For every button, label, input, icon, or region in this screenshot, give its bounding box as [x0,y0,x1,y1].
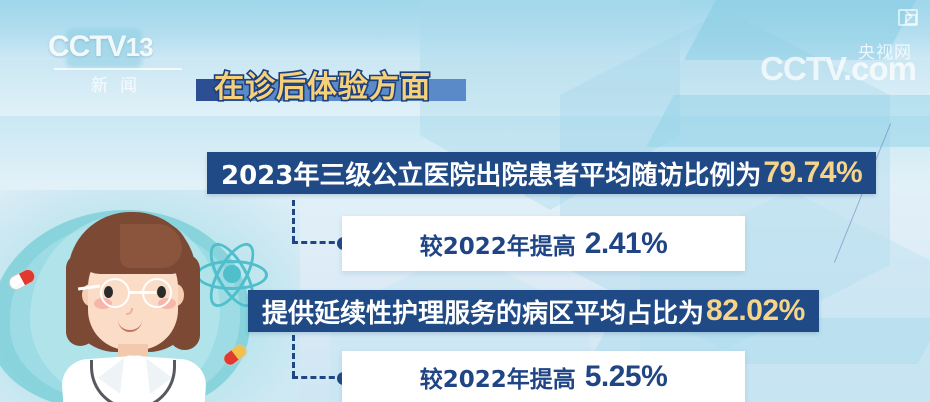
connector-row1-to-row2 [292,200,344,244]
restore-window-icon[interactable] [898,9,918,26]
glasses-icon [86,278,182,308]
logo-cctv-label: CCTV [48,30,126,63]
glasses-bridge [130,291,156,294]
stat-label: 提供延续性护理服务的病区平均占比为 [262,293,704,330]
connector-vertical-line [292,200,295,242]
restore-window-arrow-icon [900,10,913,23]
logo-cctv-text: CCTV13 [48,30,190,64]
stethoscope-icon [90,360,176,402]
logo-underline [54,68,182,70]
stat-value: 79.74% [763,156,862,190]
stat-label: 较2022年提高 [420,227,576,261]
logo-channel-number: 13 [126,32,153,62]
glasses-lens-left [100,278,130,308]
stat-value: 5.25% [585,360,668,394]
cctv-watermark: 央视网 CCTV.com [718,34,918,94]
stat-label: 较2022年提高 [420,360,576,394]
female-doctor-illustration [0,196,290,402]
doctor-figure [62,206,202,402]
stat-value: 2.41% [585,227,668,261]
atom-nucleus [223,265,241,283]
doctor-fringe-highlight [120,224,182,268]
stat-row-continuing-care-delta: 较2022年提高 5.25% [342,351,745,402]
background-slab-1 [646,95,930,147]
connector-horizontal-line [292,376,344,379]
stat-value: 82.02% [706,294,805,328]
connector-horizontal-line [292,241,344,244]
logo-subtitle: 新闻 [70,71,170,96]
broadcast-screen: CCTV13 新闻 央视网 CCTV.com 在诊后体验方面 [0,0,930,402]
watermark-en-text: CCTV.com [760,50,916,88]
stat-row-followup-delta: 较2022年提高 2.41% [342,216,745,271]
connector-row3-to-row4 [292,335,344,379]
stat-label: 2023年三级公立医院出院患者平均随访比例为 [221,155,761,192]
cctv13-logo: CCTV13 新闻 [48,26,190,98]
stat-row-continuing-care: 提供延续性护理服务的病区平均占比为 82.02% [248,290,819,332]
stat-row-followup-rate: 2023年三级公立医院出院患者平均随访比例为 79.74% [207,152,876,194]
connector-vertical-line [292,335,295,377]
title-text: 在诊后体验方面 [214,62,431,106]
